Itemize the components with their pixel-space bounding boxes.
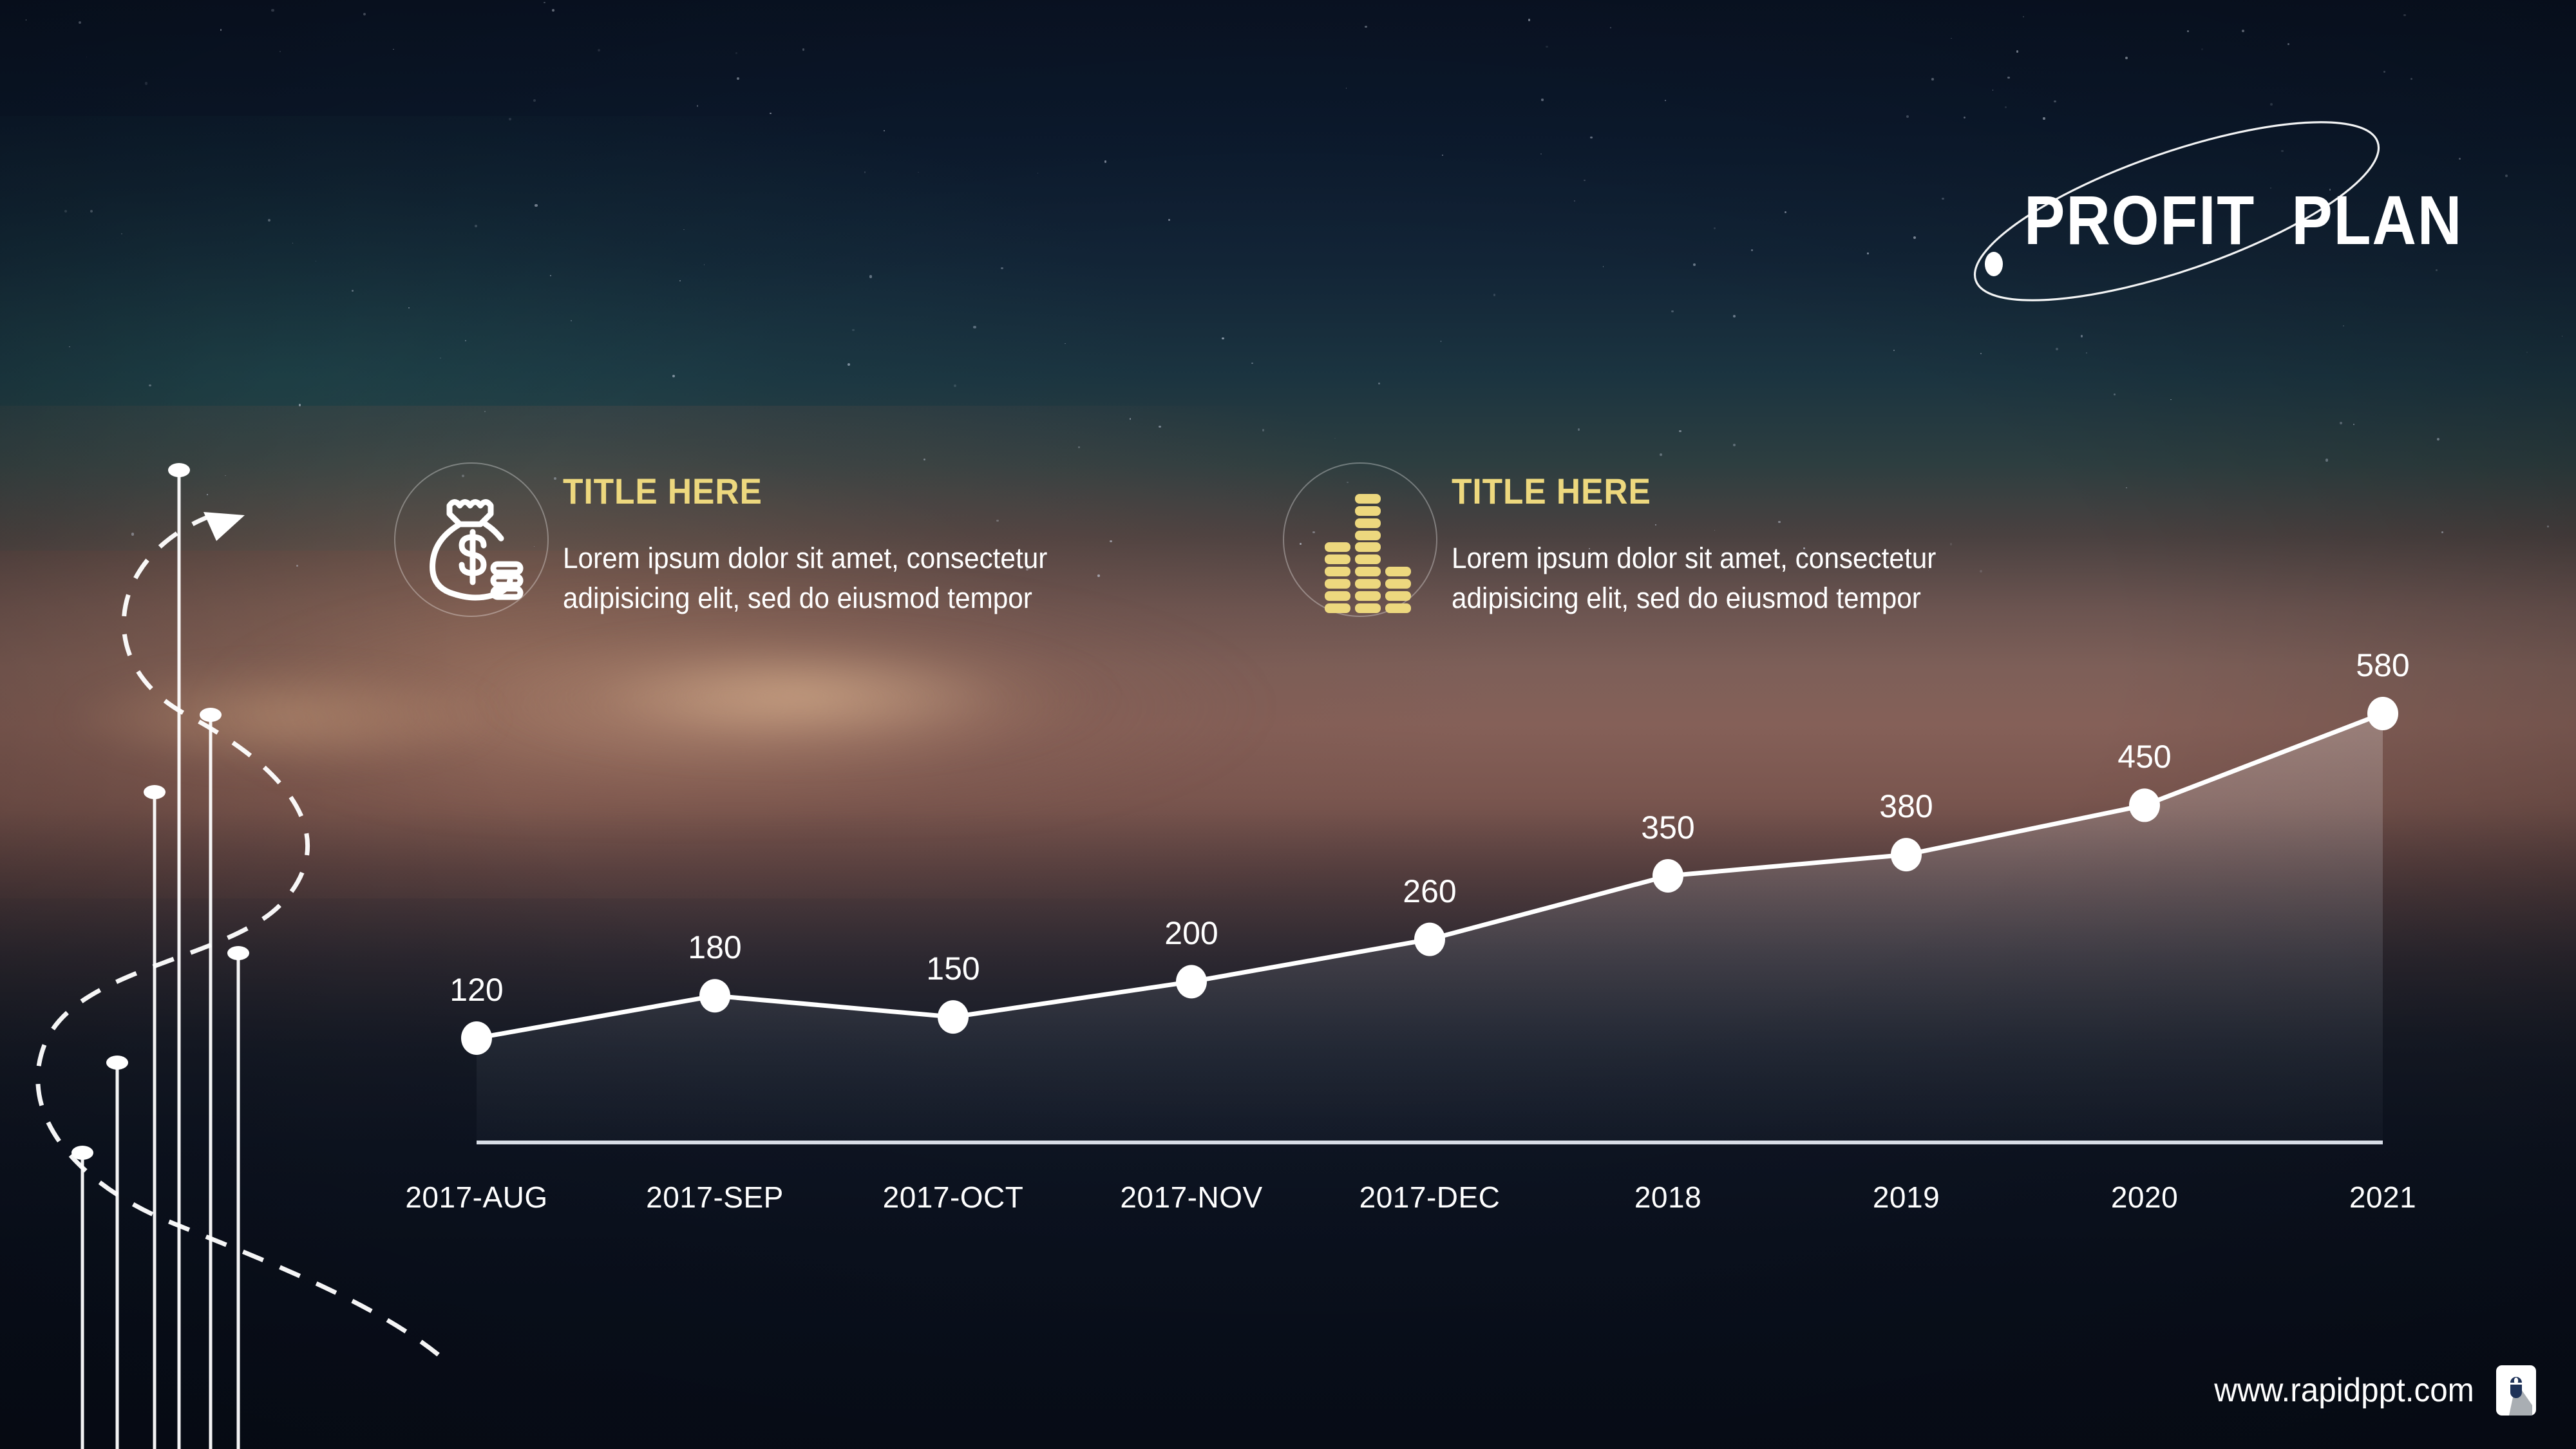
chart-category-label: 2021	[2349, 1180, 2416, 1215]
chart-point[interactable]	[938, 1000, 969, 1034]
chart-point[interactable]	[2129, 788, 2160, 822]
chart-point[interactable]	[1891, 838, 1922, 871]
chart-category-label: 2017-OCT	[883, 1180, 1024, 1215]
computer-mouse-icon	[2496, 1365, 2536, 1416]
chart-value-label: 260	[1403, 873, 1456, 910]
chart-category-label: 2017-AUG	[405, 1180, 547, 1215]
website-url[interactable]: www.rapidppt.com	[2214, 1371, 2474, 1410]
footer: www.rapidppt.com	[2201, 1365, 2536, 1416]
chart-value-label: 450	[2117, 738, 2171, 775]
chart-category-label: 2017-DEC	[1359, 1180, 1501, 1215]
chart-value-label: 120	[450, 971, 503, 1009]
chart-value-label: 150	[926, 950, 980, 987]
chart-point[interactable]	[2367, 697, 2398, 730]
chart-point[interactable]	[461, 1021, 492, 1055]
rapidppt-logo[interactable]	[2496, 1365, 2536, 1416]
chart-value-label: 200	[1164, 914, 1218, 952]
profit-line-chart: 120180150200260350380450580 2017-AUG2017…	[0, 0, 2576, 1449]
chart-category-label: 2020	[2111, 1180, 2178, 1215]
chart-category-label: 2017-NOV	[1120, 1180, 1262, 1215]
chart-point[interactable]	[699, 979, 730, 1012]
chart-category-label: 2018	[1634, 1180, 1701, 1215]
chart-value-label: 580	[2356, 647, 2409, 684]
chart-point[interactable]	[1176, 965, 1207, 998]
slide-canvas: PROFIT PLAN TITLE H	[0, 0, 2576, 1449]
chart-category-label: 2019	[1873, 1180, 1940, 1215]
chart-point[interactable]	[1653, 859, 1683, 893]
chart-point[interactable]	[1414, 923, 1445, 956]
chart-category-label: 2017-SEP	[646, 1180, 784, 1215]
chart-value-label: 180	[688, 929, 741, 966]
chart-value-label: 350	[1641, 809, 1694, 846]
chart-value-label: 380	[1879, 788, 1933, 825]
